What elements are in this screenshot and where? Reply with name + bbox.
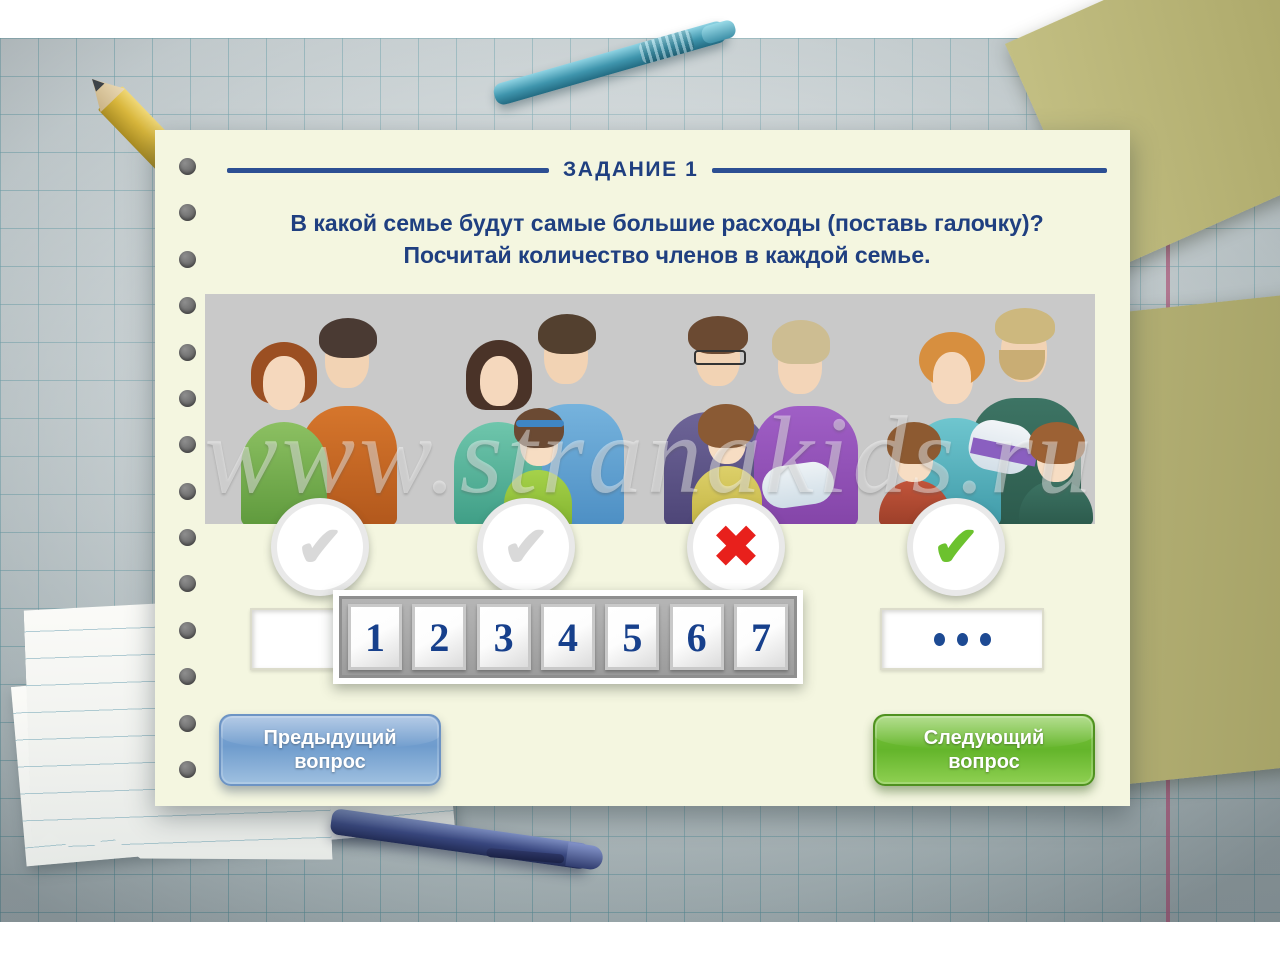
placeholder-dot (934, 633, 945, 646)
prev-label-line1: Предыдущий (263, 727, 396, 749)
cross-icon: ✖ (713, 519, 760, 575)
task-prompt: В какой семье будут самые большие расход… (227, 208, 1107, 271)
header-rule-left (227, 168, 549, 173)
next-label-line2: вопрос (948, 751, 1020, 773)
number-tile-1[interactable]: 1 (348, 604, 402, 670)
punch-hole (179, 668, 196, 685)
task-header: ЗАДАНИЕ 1 (227, 158, 1107, 182)
number-tile-4[interactable]: 4 (541, 604, 595, 670)
placeholder-dot (957, 633, 968, 646)
number-tile-7[interactable]: 7 (734, 604, 788, 670)
answer-field-right[interactable] (880, 608, 1044, 670)
punch-hole (179, 761, 196, 778)
page-title: ЗАДАНИЕ 1 (563, 158, 698, 182)
answer-input-row: 1 2 3 4 5 6 7 (205, 608, 1095, 670)
punch-hole (179, 297, 196, 314)
punch-hole (179, 251, 196, 268)
answer-circle-family-3[interactable]: ✖ (687, 498, 785, 596)
prompt-line-2: Посчитай количество членов в каждой семь… (227, 240, 1107, 272)
family-group-1 (205, 294, 428, 524)
next-question-button[interactable]: Следующий вопрос (873, 714, 1095, 786)
answer-circle-family-1[interactable]: ✔ (271, 498, 369, 596)
next-label-line1: Следующий (924, 727, 1045, 749)
punch-holes (179, 158, 197, 778)
previous-question-button[interactable]: Предыдущий вопрос (219, 714, 441, 786)
punch-hole (179, 344, 196, 361)
family-group-4 (873, 294, 1096, 524)
punch-hole (179, 715, 196, 732)
family-group-3 (650, 294, 873, 524)
answer-choices: ✔ ✔ ✖ ✔ (205, 498, 1095, 590)
punch-hole (179, 436, 196, 453)
screen: ЗАДАНИЕ 1 В какой семье будут самые боль… (0, 0, 1280, 960)
answer-circle-family-4[interactable]: ✔ (907, 498, 1005, 596)
check-icon: ✔ (297, 519, 344, 575)
number-tile-2[interactable]: 2 (412, 604, 466, 670)
families-illustration: www.stranakids.ru (205, 294, 1095, 524)
check-icon: ✔ (503, 519, 550, 575)
placeholder-dot (980, 633, 991, 646)
prompt-line-1: В какой семье будут самые большие расход… (227, 208, 1107, 240)
number-tile-strip: 1 2 3 4 5 6 7 (333, 590, 803, 684)
punch-hole (179, 390, 196, 407)
header-rule-right (712, 168, 1107, 173)
punch-hole (179, 204, 196, 221)
prev-label-line2: вопрос (294, 751, 366, 773)
number-tile-6[interactable]: 6 (670, 604, 724, 670)
family-group-2 (428, 294, 651, 524)
answer-circle-family-2[interactable]: ✔ (477, 498, 575, 596)
punch-hole (179, 575, 196, 592)
punch-hole (179, 622, 196, 639)
worksheet-card: ЗАДАНИЕ 1 В какой семье будут самые боль… (155, 130, 1130, 806)
punch-hole (179, 529, 196, 546)
punch-hole (179, 483, 196, 500)
check-icon: ✔ (933, 519, 980, 575)
number-tile-5[interactable]: 5 (605, 604, 659, 670)
punch-hole (179, 158, 196, 175)
number-tile-3[interactable]: 3 (477, 604, 531, 670)
